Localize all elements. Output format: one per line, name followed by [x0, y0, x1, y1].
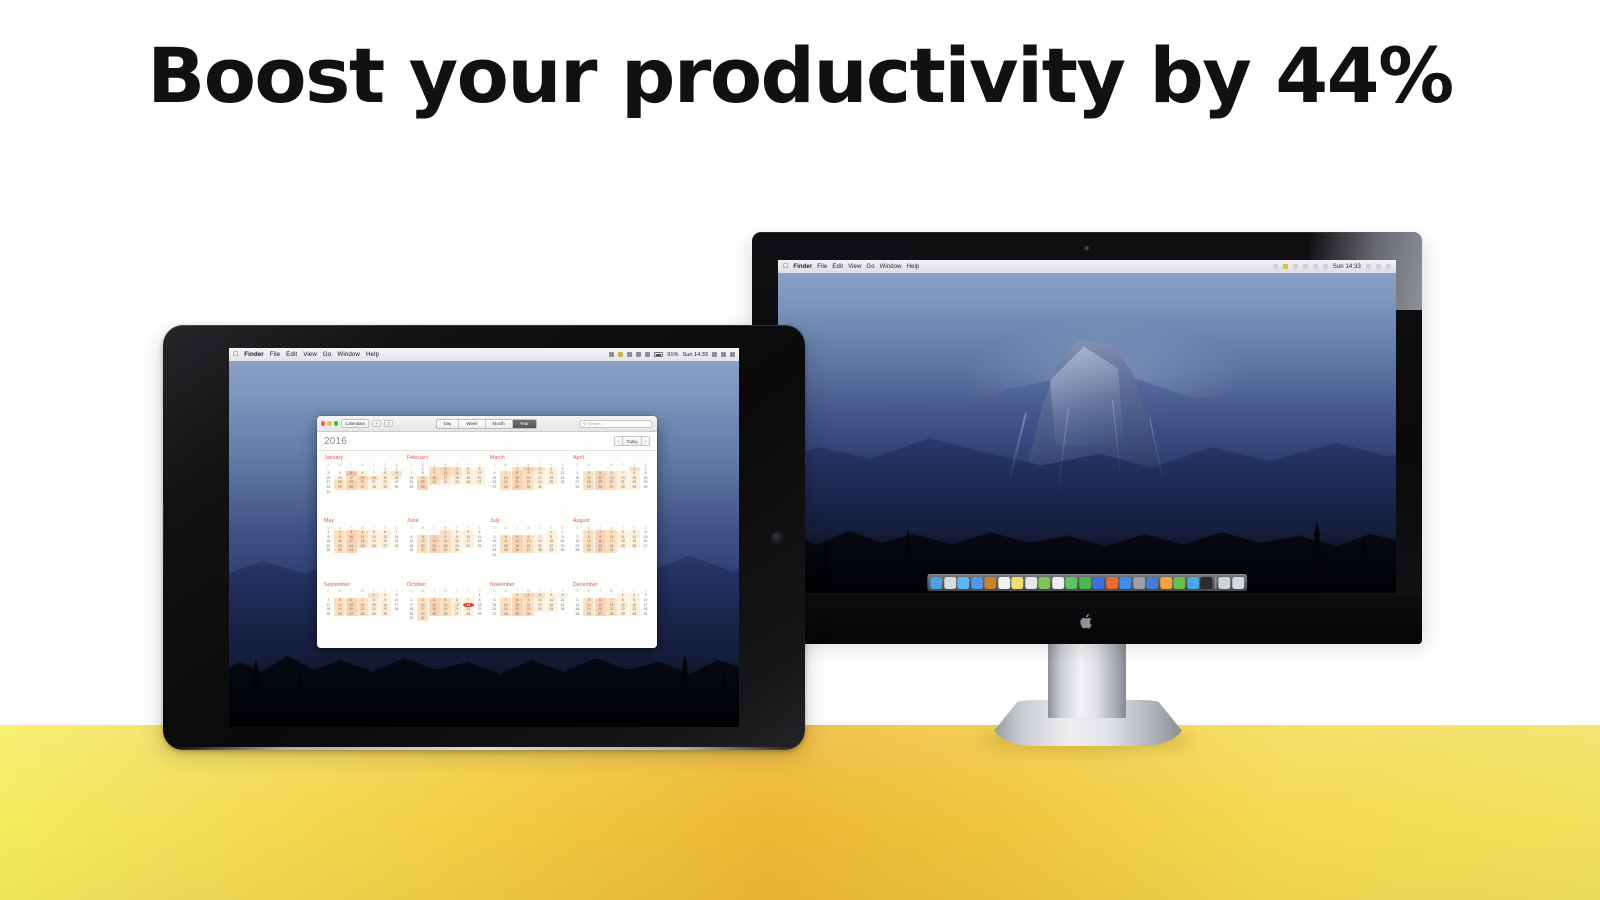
monitor-dock[interactable]: [927, 574, 1247, 591]
tab-day[interactable]: Day: [437, 420, 460, 428]
calendar-day-cell: [391, 548, 402, 553]
week-row: 45678910: [572, 598, 651, 603]
month-name: July: [489, 518, 568, 524]
search-icon[interactable]: [1376, 264, 1381, 269]
calendar-day-cell: [380, 490, 391, 495]
dock-item-messages[interactable]: [1065, 577, 1077, 589]
calendar-day-cell[interactable]: 4: [617, 530, 628, 535]
week-row: 12: [489, 530, 568, 535]
dock-item-calendar[interactable]: [998, 577, 1010, 589]
menu-bar-clock[interactable]: Sun 14:33: [1333, 264, 1361, 270]
calendar-day-cell[interactable]: 29: [323, 548, 334, 553]
dock-separator: [1215, 577, 1216, 589]
dock-item-downloads[interactable]: [1218, 577, 1230, 589]
tab-week[interactable]: Week: [459, 420, 485, 428]
menu-bar-clock[interactable]: Sun 14:33: [682, 352, 708, 358]
calendar-day-cell[interactable]: 26: [595, 485, 606, 490]
monitor-menu-bar[interactable]:  Finder File Edit View Go Window Help: [778, 260, 1396, 273]
calendar-day-cell[interactable]: 27: [346, 612, 357, 617]
dock-item-launchpad[interactable]: [944, 577, 956, 589]
tab-month[interactable]: Month: [486, 420, 513, 428]
month-block[interactable]: MaySMTWTFS123456789101112131415161718192…: [323, 518, 402, 579]
notifications-icon[interactable]: [730, 352, 735, 357]
menu-item-window[interactable]: Window: [337, 351, 360, 358]
calendar-nav[interactable]: ‹ Today ›: [614, 436, 650, 446]
month-name: June: [406, 518, 485, 524]
calendar-header: 2016 ‹ Today ›: [317, 432, 657, 451]
month-name: October: [406, 582, 485, 588]
menu-item-view[interactable]: View: [848, 264, 861, 270]
dock-item-safari[interactable]: [957, 577, 969, 589]
calendar-day-cell[interactable]: 29: [417, 485, 428, 490]
month-name: March: [489, 455, 568, 461]
calendar-day-cell[interactable]: 28: [606, 612, 617, 617]
calendar-day-cell[interactable]: 2: [451, 530, 462, 535]
dropbox-icon[interactable]: [609, 352, 614, 357]
calendar-day-cell[interactable]: 31: [606, 548, 617, 553]
dropbox-icon[interactable]: [1273, 264, 1278, 269]
calendar-day-cell[interactable]: 5: [368, 530, 379, 535]
calendar-day-cell[interactable]: 30: [451, 548, 462, 553]
calendar-day-cell[interactable]: 12: [557, 598, 568, 603]
calendar-day-cell[interactable]: 29: [617, 612, 628, 617]
calendar-day-cell: [451, 485, 462, 490]
calendar-day-cell[interactable]: 9: [629, 598, 640, 603]
calendar-day-cell[interactable]: 6: [595, 598, 606, 603]
notes-icon[interactable]: [1283, 264, 1288, 269]
dock-item-contacts[interactable]: [984, 577, 996, 589]
week-row: 31: [323, 490, 402, 495]
calendar-day-cell: [534, 530, 545, 535]
wifi-icon[interactable]: [636, 352, 641, 357]
calendar-day-cell[interactable]: 8: [368, 598, 379, 603]
calendar-day-cell[interactable]: 2: [557, 530, 568, 535]
calendar-day-cell[interactable]: 26: [583, 612, 594, 617]
week-row: 6789101112: [489, 598, 568, 603]
menu-item-edit[interactable]: Edit: [286, 351, 297, 358]
monitor-screen:  Finder File Edit View Go Window Help: [778, 260, 1396, 593]
dock-item-reminders[interactable]: [1025, 577, 1037, 589]
calendar-day-cell[interactable]: 31: [417, 616, 428, 621]
calendar-day-cell[interactable]: 28: [500, 612, 511, 617]
menu-item-go[interactable]: Go: [323, 351, 331, 358]
month-block[interactable]: AprilSMTWTFS1234567891011121314151617181…: [572, 455, 651, 516]
next-button[interactable]: ›: [642, 437, 649, 445]
calendar-day-cell: [417, 530, 428, 535]
calendar-day-cell: [523, 530, 534, 535]
camera-icon: [1085, 246, 1090, 251]
calendar-day-cell[interactable]: 30: [629, 612, 640, 617]
calendar-day-cell[interactable]: 11: [546, 598, 557, 603]
calendar-day-cell: [391, 612, 402, 617]
calendar-day-cell[interactable]: 28: [572, 548, 583, 553]
week-row: 31: [489, 553, 568, 558]
calendar-day-cell[interactable]: 26: [346, 485, 357, 490]
dock-item-finder[interactable]: [930, 577, 942, 589]
calendar-day-cell[interactable]: 28: [500, 485, 511, 490]
calendar-day-cell[interactable]: 30: [391, 485, 402, 490]
month-block[interactable]: FebruarySMTWTFS1234567891011121314151617…: [406, 455, 485, 516]
calendar-day-cell[interactable]: 29: [512, 485, 523, 490]
week-row: 293031: [323, 548, 402, 553]
dock-item-ibooks[interactable]: [1106, 577, 1118, 589]
dock-item-itunes[interactable]: [1092, 577, 1104, 589]
calendar-day-cell[interactable]: 6: [451, 598, 462, 603]
calendar-day-cell: [557, 485, 568, 490]
calendar-day-cell: [489, 530, 500, 535]
calendar-day-cell[interactable]: 1: [440, 530, 451, 535]
calendar-day-cell[interactable]: 10: [640, 598, 651, 603]
calendar-day-cell[interactable]: 31: [323, 490, 334, 495]
calendar-day-cell: [463, 548, 474, 553]
calendar-day-cell[interactable]: 30: [406, 616, 417, 621]
calendars-button[interactable]: Calendars: [341, 419, 369, 428]
calendar-year-label: 2016: [324, 436, 347, 447]
calendar-day-cell[interactable]: 28: [368, 485, 379, 490]
calendar-day-cell: [463, 616, 474, 621]
month-block[interactable]: DecemberSMTWTFS1234567891011121314151617…: [572, 582, 651, 643]
calendar-day-cell[interactable]: 27: [489, 485, 500, 490]
calendar-day-cell: [500, 553, 511, 558]
minimize-icon[interactable]: [327, 421, 331, 425]
menu-item-help[interactable]: Help: [366, 351, 379, 358]
calendar-day-cell: [546, 553, 557, 558]
calendar-day-cell[interactable]: 24: [572, 485, 583, 490]
calendar-day-cell[interactable]: 1: [546, 530, 557, 535]
month-name: November: [489, 582, 568, 588]
menu-item-help[interactable]: Help: [907, 264, 920, 270]
search-placeholder: Search: [588, 421, 601, 426]
calendar-day-cell[interactable]: 31: [346, 548, 357, 553]
calendar-day-cell: [463, 485, 474, 490]
calendar-day-cell[interactable]: 25: [323, 612, 334, 617]
yosemite-wallpaper: [778, 260, 1396, 593]
calendar-day-cell[interactable]: 27: [489, 612, 500, 617]
calendar-day-cell: [440, 485, 451, 490]
calendar-day-cell: [429, 616, 440, 621]
tablet-bezel:  Finder File Edit View Go Window Help: [163, 325, 805, 750]
calendar-day-cell[interactable]: 10: [391, 598, 402, 603]
month-block[interactable]: SeptemberSMTWTFS123456789101112131415161…: [323, 582, 402, 643]
bluetooth-icon[interactable]: [627, 352, 632, 357]
week-row: 3031: [406, 616, 485, 621]
calendar-day-cell[interactable]: 30: [380, 612, 391, 617]
calendar-day-cell[interactable]: 27: [417, 548, 428, 553]
battery-icon[interactable]: [654, 352, 663, 357]
calendar-day-cell[interactable]: 6: [380, 530, 391, 535]
calendar-day-cell: [429, 530, 440, 535]
menu-item-edit[interactable]: Edit: [832, 264, 843, 270]
calendar-day-cell[interactable]: 31: [489, 553, 500, 558]
week-row: 2728293031: [489, 485, 568, 490]
calendar-day-cell: [474, 485, 485, 490]
user-icon[interactable]: [712, 352, 717, 357]
calendar-toolbar[interactable]: Calendars + ⇧ Day Week Month Year ⚲ Sear…: [317, 416, 657, 432]
calendar-day-cell: [368, 490, 379, 495]
dock-item-numbers[interactable]: [1173, 577, 1185, 589]
calendar-day-cell: [572, 530, 583, 535]
calendar-day-cell[interactable]: 3: [417, 598, 428, 603]
page-title: Boost your productivity by 44%: [0, 38, 1600, 114]
calendar-day-cell[interactable]: 26: [406, 548, 417, 553]
calendar-day-cell[interactable]: 9: [380, 598, 391, 603]
calendar-day-cell: [534, 553, 545, 558]
calendar-day-cell: [451, 616, 462, 621]
calendar-day-cell: [629, 548, 640, 553]
calendar-day-cell[interactable]: 28: [357, 612, 368, 617]
week-row: 2345678: [406, 598, 485, 603]
menu-item-finder[interactable]: Finder: [244, 351, 264, 358]
today-button[interactable]: Today: [623, 437, 641, 445]
calendar-day-cell[interactable]: 5: [629, 530, 640, 535]
calendar-day-cell[interactable]: 5: [440, 598, 451, 603]
month-block[interactable]: JulySMTWTFS12345678910111213141516171819…: [489, 518, 568, 579]
calendar-day-cell[interactable]: 8: [512, 598, 523, 603]
zoom-icon[interactable]: [334, 421, 338, 425]
week-row: 45678910: [323, 598, 402, 603]
calendar-day-cell[interactable]: 8: [617, 598, 628, 603]
dock-item-system-preferences[interactable]: [1133, 577, 1145, 589]
month-name: December: [572, 582, 651, 588]
window-controls[interactable]: [321, 421, 338, 425]
calendar-day-cell: [557, 612, 568, 617]
calendar-day-cell[interactable]: 8: [474, 598, 485, 603]
calendar-day-cell[interactable]: 29: [512, 612, 523, 617]
calendar-day-cell[interactable]: 2: [595, 530, 606, 535]
week-row: 123456: [572, 530, 651, 535]
calendar-day-cell: [512, 530, 523, 535]
tablet-device:  Finder File Edit View Go Window Help: [163, 325, 805, 750]
calendar-day-cell[interactable]: 27: [606, 485, 617, 490]
dock-item-facetime[interactable]: [1079, 577, 1091, 589]
calendar-day-cell[interactable]: 26: [334, 612, 345, 617]
notes-icon[interactable]: [618, 352, 623, 357]
calendar-day-cell[interactable]: 31: [640, 612, 651, 617]
calendar-day-cell[interactable]: 7: [500, 598, 511, 603]
calendar-day-cell[interactable]: 2: [406, 598, 417, 603]
dock-item-pages[interactable]: [1160, 577, 1172, 589]
week-row: 25262728293031: [572, 612, 651, 617]
calendar-day-cell[interactable]: 7: [463, 598, 474, 603]
calendar-day-cell: [368, 548, 379, 553]
calendar-day-cell[interactable]: 3: [463, 530, 474, 535]
menu-item-finder[interactable]: Finder: [793, 264, 812, 270]
dock-item-appstore[interactable]: [1119, 577, 1131, 589]
calendar-day-cell: [500, 530, 511, 535]
apple-logo-icon: [1080, 613, 1095, 630]
week-row: 24252627282930: [572, 485, 651, 490]
calendar-day-cell: [474, 616, 485, 621]
dock-item-maps[interactable]: [1038, 577, 1050, 589]
share-button[interactable]: ⇧: [384, 420, 393, 428]
calendar-day-cell: [534, 612, 545, 617]
calendar-day-cell: [380, 548, 391, 553]
week-row: 2627282930: [406, 548, 485, 553]
month-block[interactable]: JanuarySMTWTFS12345678910111213141516171…: [323, 455, 402, 516]
calendar-day-cell: [357, 548, 368, 553]
month-block[interactable]: MarchSMTWTFS1234567891011121314151617181…: [489, 455, 568, 516]
month-block[interactable]: NovemberSMTWTFS1234567891011121314151617…: [489, 582, 568, 643]
calendar-day-cell[interactable]: 5: [334, 598, 345, 603]
dock-item-mail[interactable]: [971, 577, 983, 589]
calendar-day-cell[interactable]: 5: [583, 598, 594, 603]
month-name: August: [572, 518, 651, 524]
month-name: February: [406, 455, 485, 461]
month-name: September: [323, 582, 402, 588]
volume-icon[interactable]: [1313, 264, 1318, 269]
month-name: April: [572, 455, 651, 461]
calendar-day-cell[interactable]: 1: [583, 530, 594, 535]
calendar-day-cell: [346, 490, 357, 495]
apple-menu-icon[interactable]: : [233, 351, 238, 358]
calendar-day-cell[interactable]: 30: [334, 548, 345, 553]
calendar-day-cell[interactable]: 7: [391, 530, 402, 535]
calendar-window[interactable]: Calendars + ⇧ Day Week Month Year ⚲ Sear…: [317, 416, 657, 648]
menu-bar-status-area[interactable]: 91% Sun 14:33: [609, 352, 735, 358]
calendar-day-cell[interactable]: 7: [606, 598, 617, 603]
menu-item-window[interactable]: Window: [880, 264, 902, 270]
calendar-day-cell: [546, 612, 557, 617]
calendar-day-cell: [640, 548, 651, 553]
calendar-day-cell[interactable]: 30: [640, 485, 651, 490]
close-icon[interactable]: [321, 421, 325, 425]
calendar-day-cell[interactable]: 9: [523, 598, 534, 603]
calendar-day-cell[interactable]: 3: [346, 530, 357, 535]
month-block[interactable]: AugustSMTWTFS123456789101112131415161718…: [572, 518, 651, 579]
search-icon[interactable]: [721, 352, 726, 357]
calendar-day-cell: [406, 530, 417, 535]
dock-item-xcode[interactable]: [1146, 577, 1158, 589]
tablet-side-button[interactable]: [163, 503, 164, 599]
calendar-day-cell[interactable]: 28: [429, 548, 440, 553]
week-row: 1234: [406, 530, 485, 535]
calendar-day-cell: [617, 548, 628, 553]
week-row: 1234567: [323, 530, 402, 535]
calendar-day-cell: [557, 553, 568, 558]
dock-item-trash[interactable]: [1232, 577, 1244, 589]
calendar-day-cell: [429, 485, 440, 490]
tablet-menu-bar[interactable]:  Finder File Edit View Go Window Help: [229, 348, 739, 361]
week-row: 28293031: [572, 548, 651, 553]
calendar-day-cell[interactable]: 29: [380, 485, 391, 490]
search-icon: ⚲: [583, 421, 586, 426]
tab-year[interactable]: Year: [513, 420, 536, 428]
calendar-day-cell[interactable]: 27: [357, 485, 368, 490]
calendar-day-cell[interactable]: 1: [323, 530, 334, 535]
calendar-day-cell[interactable]: 27: [595, 612, 606, 617]
calendar-day-cell[interactable]: 31: [534, 485, 545, 490]
calendar-day-cell[interactable]: 4: [572, 598, 583, 603]
calendar-day-cell: [474, 548, 485, 553]
calendar-day-cell[interactable]: 4: [357, 530, 368, 535]
calendar-day-cell[interactable]: 24: [323, 485, 334, 490]
volume-icon[interactable]: [645, 352, 650, 357]
calendar-day-cell[interactable]: 25: [583, 485, 594, 490]
week-row: 2829: [406, 485, 485, 490]
monitor-stand-neck: [1048, 640, 1126, 718]
month-block[interactable]: OctoberSMTWTFS12345678910111213141516171…: [406, 582, 485, 643]
calendar-day-cell[interactable]: 4: [474, 530, 485, 535]
calendar-day-cell[interactable]: 29: [368, 612, 379, 617]
menu-item-file[interactable]: File: [270, 351, 280, 358]
calendar-day-cell: [357, 490, 368, 495]
monitor-bezel:  Finder File Edit View Go Window Help: [752, 232, 1422, 644]
battery-icon[interactable]: [1323, 264, 1328, 269]
calendar-day-cell[interactable]: 6: [640, 530, 651, 535]
calendar-day-cell[interactable]: 4: [323, 598, 334, 603]
dock-item-keynote[interactable]: [1187, 577, 1199, 589]
calendar-day-cell[interactable]: 7: [357, 598, 368, 603]
week-row: 252627282930: [323, 612, 402, 617]
calendar-day-cell[interactable]: 29: [629, 485, 640, 490]
bluetooth-icon[interactable]: [1293, 264, 1298, 269]
menu-item-go[interactable]: Go: [866, 264, 874, 270]
apple-menu-icon[interactable]: : [783, 263, 788, 270]
calendar-day-cell[interactable]: 6: [489, 598, 500, 603]
battery-percent: 91%: [667, 352, 678, 358]
user-icon[interactable]: [1366, 264, 1371, 269]
monitor-chin: [752, 596, 1422, 644]
calendar-day-cell: [334, 490, 345, 495]
month-name: May: [323, 518, 402, 524]
wifi-icon[interactable]: [1303, 264, 1308, 269]
menu-item-file[interactable]: File: [817, 264, 827, 270]
dock-item-photos[interactable]: [1052, 577, 1064, 589]
calendar-day-cell[interactable]: 25: [572, 612, 583, 617]
promo-scene: Boost your productivity by 44%: [0, 0, 1600, 900]
calendar-day-cell[interactable]: 10: [534, 598, 545, 603]
calendar-day-cell[interactable]: 3: [606, 530, 617, 535]
thunderbolt-display:  Finder File Edit View Go Window Help: [752, 232, 1422, 644]
notifications-icon[interactable]: [1386, 264, 1391, 269]
calendar-day-cell: [512, 553, 523, 558]
calendar-day-cell[interactable]: 2: [334, 530, 345, 535]
calendar-year-grid[interactable]: JanuarySMTWTFS12345678910111213141516171…: [317, 451, 657, 648]
calendar-day-cell[interactable]: 4: [429, 598, 440, 603]
month-name: January: [323, 455, 402, 461]
calendar-day-cell: [391, 490, 402, 495]
calendar-day-cell[interactable]: 29: [583, 548, 594, 553]
week-row: 27282930: [489, 612, 568, 617]
calendar-day-cell[interactable]: 25: [334, 485, 345, 490]
calendar-day-cell: [440, 616, 451, 621]
tablet-bottom-edge: [173, 747, 795, 750]
calendar-day-cell[interactable]: 29: [440, 548, 451, 553]
calendar-day-cell[interactable]: 30: [595, 548, 606, 553]
calendar-day-cell: [523, 553, 534, 558]
tablet-home-button[interactable]: [771, 532, 783, 544]
calendar-day-cell[interactable]: 28: [406, 485, 417, 490]
search-field[interactable]: ⚲ Search: [579, 420, 653, 428]
prev-button[interactable]: ‹: [615, 437, 623, 445]
menu-bar-status-area[interactable]: Sun 14:33: [1273, 264, 1391, 270]
calendar-day-cell[interactable]: 28: [617, 485, 628, 490]
month-block[interactable]: JuneSMTWTFS12345678910111213141516171819…: [406, 518, 485, 579]
dock-item-terminal[interactable]: [1200, 577, 1212, 589]
calendar-day-cell[interactable]: 30: [523, 612, 534, 617]
add-event-button[interactable]: +: [372, 420, 381, 428]
view-switcher[interactable]: Day Week Month Year: [436, 419, 537, 429]
calendar-day-cell[interactable]: 6: [346, 598, 357, 603]
week-row: 24252627282930: [323, 485, 402, 490]
dock-item-notes[interactable]: [1011, 577, 1023, 589]
calendar-day-cell[interactable]: 30: [523, 485, 534, 490]
menu-item-view[interactable]: View: [303, 351, 317, 358]
tablet-screen:  Finder File Edit View Go Window Help: [229, 348, 739, 727]
calendar-day-cell: [546, 485, 557, 490]
